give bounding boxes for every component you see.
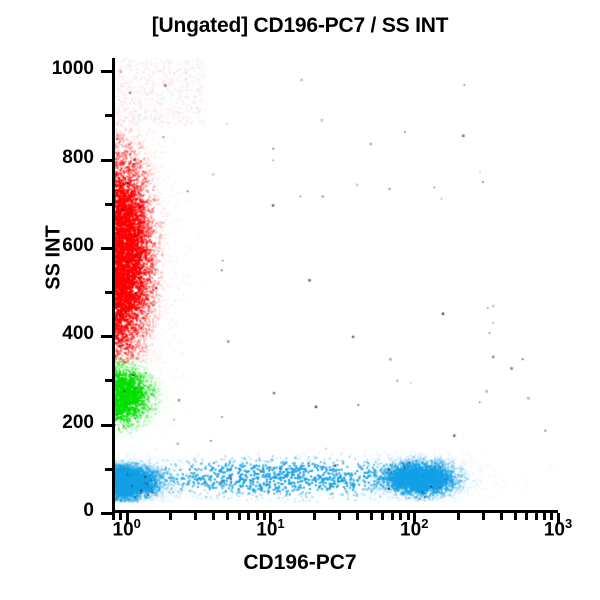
x-major-tick <box>126 513 129 524</box>
x-tick-base: 10 <box>400 519 421 540</box>
y-axis-label: SS INT <box>43 198 66 318</box>
x-minor-tick <box>194 513 197 520</box>
x-minor-tick <box>381 513 384 520</box>
y-minor-tick <box>105 379 112 382</box>
y-minor-tick <box>105 468 112 471</box>
y-minor-tick <box>105 203 112 206</box>
x-major-tick <box>557 513 560 524</box>
y-major-tick <box>101 70 112 73</box>
x-tick-base: 10 <box>544 519 565 540</box>
x-minor-tick <box>256 513 259 520</box>
x-axis-label: CD196-PC7 <box>0 551 600 575</box>
x-minor-tick <box>226 513 229 520</box>
y-tick-label: 1000 <box>26 58 94 80</box>
scatter-plot-canvas <box>115 58 558 513</box>
x-minor-tick <box>457 513 460 520</box>
x-tick-exponent: 0 <box>134 516 141 531</box>
y-minor-tick <box>105 291 112 294</box>
x-minor-tick <box>482 513 485 520</box>
y-major-tick <box>101 247 112 250</box>
x-minor-tick <box>356 513 359 520</box>
x-minor-tick <box>550 513 553 520</box>
x-minor-tick <box>313 513 316 520</box>
x-minor-tick <box>514 513 517 520</box>
x-minor-tick <box>119 513 122 520</box>
y-tick-label: 600 <box>26 235 94 257</box>
x-tick-exponent: 1 <box>277 516 284 531</box>
x-minor-tick <box>238 513 241 520</box>
x-minor-tick <box>338 513 341 520</box>
flow-cytometry-plot-page: [Ungated] CD196-PC7 / SS INT SS INT CD19… <box>0 0 600 600</box>
x-minor-tick <box>535 513 538 520</box>
x-minor-tick <box>399 513 402 520</box>
y-major-tick <box>101 159 112 162</box>
page-title: [Ungated] CD196-PC7 / SS INT <box>0 14 600 38</box>
y-tick-label: 200 <box>26 412 94 434</box>
plot-area <box>112 58 558 513</box>
x-major-tick <box>413 513 416 524</box>
y-major-tick <box>101 335 112 338</box>
y-major-tick <box>101 424 112 427</box>
x-minor-tick <box>543 513 546 520</box>
x-minor-tick <box>247 513 250 520</box>
x-tick-exponent: 3 <box>565 516 572 531</box>
x-minor-tick <box>169 513 172 520</box>
x-minor-tick <box>263 513 266 520</box>
y-minor-tick <box>105 114 112 117</box>
x-major-tick <box>269 513 272 524</box>
x-minor-tick <box>112 513 115 520</box>
x-minor-tick <box>525 513 528 520</box>
x-tick-base: 10 <box>256 519 277 540</box>
x-minor-tick <box>370 513 373 520</box>
x-minor-tick <box>407 513 410 520</box>
x-minor-tick <box>500 513 503 520</box>
y-tick-label: 0 <box>26 500 94 522</box>
x-tick-exponent: 2 <box>421 516 428 531</box>
x-tick-base: 10 <box>113 519 134 540</box>
x-minor-tick <box>212 513 215 520</box>
y-tick-label: 800 <box>26 147 94 169</box>
x-minor-tick <box>391 513 394 520</box>
y-major-tick <box>101 512 112 515</box>
y-tick-label: 400 <box>26 323 94 345</box>
